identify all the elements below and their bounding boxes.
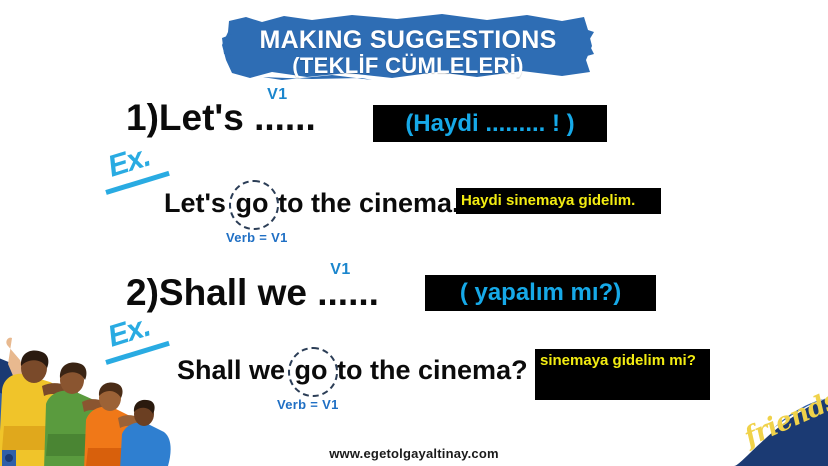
rule-2-pattern: 2)Shall we V1......: [126, 273, 379, 313]
slide-canvas: MAKING SUGGESTIONS (TEKLİF CÜMLELERİ) 1)…: [0, 0, 828, 466]
example-2-circled-verb: go: [293, 355, 330, 385]
rule-2-translation-box: ( yapalım mı?): [425, 275, 656, 311]
rule-2-blank: V1......: [317, 273, 379, 313]
rule-1-translation-text: (Haydi ......... ! ): [405, 110, 574, 138]
example-2-before: Shall we: [177, 355, 293, 385]
example-1-sentence: Let's go to the cinema.: [164, 188, 460, 218]
friends-corner-badge: friends: [700, 398, 828, 466]
rule-2-number: 2): [126, 272, 159, 313]
rule-2-phrase: Shall we: [159, 272, 317, 313]
rule-1-phrase: Let's: [159, 97, 254, 138]
rule-1-pattern: 1)Let's V1......: [126, 98, 316, 138]
rule-2-v1-marker: V1: [330, 250, 351, 290]
example-2-translation-box: sinemaya gidelim mi?: [535, 349, 710, 400]
example-2-after: to the cinema?: [330, 355, 528, 385]
rule-1-number: 1): [126, 97, 159, 138]
example-2-sentence: Shall we go to the cinema?: [177, 355, 528, 385]
friends-illustration-svg: [0, 330, 184, 466]
example-1-translation-box: Haydi sinemaya gidelim.: [456, 188, 661, 214]
example-2-translation-text: sinemaya gidelim mi?: [540, 349, 696, 373]
title-banner: MAKING SUGGESTIONS (TEKLİF CÜMLELERİ): [222, 12, 594, 80]
rule-1-blank: V1......: [254, 98, 316, 138]
rule-2-translation-text: ( yapalım mı?): [460, 279, 621, 307]
example-1-translation-text: Haydi sinemaya gidelim.: [461, 188, 635, 214]
example-1-after: to the cinema.: [270, 188, 459, 218]
rule-1-translation-box: (Haydi ......... ! ): [373, 105, 607, 142]
example-1-circled-verb: go: [233, 188, 270, 218]
example-2-verb-note: Verb = V1: [277, 397, 339, 412]
example-1-before: Let's: [164, 188, 233, 218]
banner-title-line1: MAKING SUGGESTIONS: [222, 27, 594, 54]
group-of-friends-illustration: [0, 330, 184, 466]
example-1-verb-note: Verb = V1: [226, 230, 288, 245]
rule-1-v1-marker: V1: [267, 75, 288, 115]
